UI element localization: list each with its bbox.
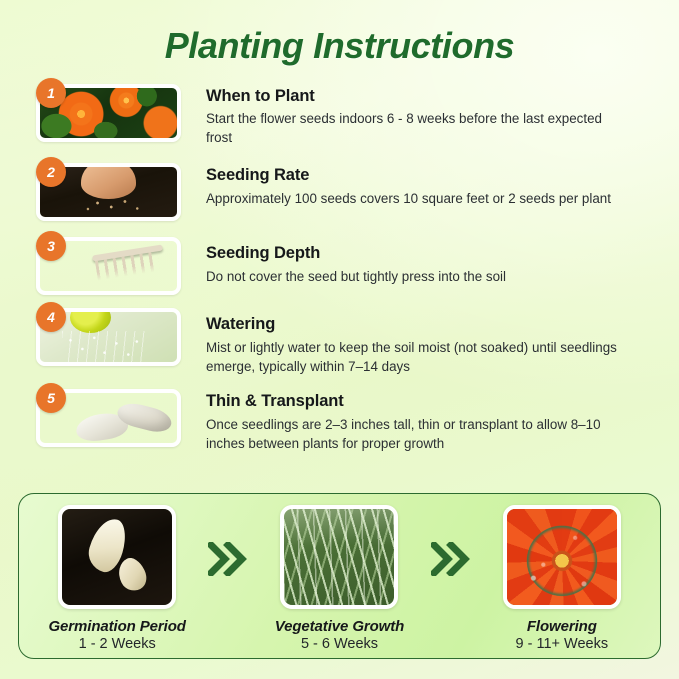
- timeline-stage-duration: 9 - 11+ Weeks: [516, 636, 609, 652]
- step-media: 1: [36, 84, 188, 142]
- step-text: Seeding Rate Approximately 100 seeds cov…: [188, 163, 655, 208]
- step-description: Mist or lightly water to keep the soil m…: [206, 338, 618, 376]
- step-description: Do not cover the seed but tightly press …: [206, 267, 618, 286]
- step-item: 1 When to Plant Start the flower seeds i…: [36, 84, 655, 148]
- step-title: Watering: [206, 314, 655, 335]
- step-media: 5: [36, 389, 188, 447]
- timeline-stage-label: Germination Period: [48, 618, 185, 635]
- vegetative-foliage-photo: [284, 509, 394, 605]
- timeline-stage: Flowering 9 - 11+ Weeks: [478, 501, 646, 652]
- timeline-thumbnail: [503, 505, 621, 609]
- step-number-badge: 1: [36, 78, 66, 108]
- step-number-badge: 5: [36, 383, 66, 413]
- page-title: Planting Instructions: [0, 0, 679, 65]
- double-chevron-right-icon: [201, 542, 255, 576]
- step-text: Thin & Transplant Once seedlings are 2–3…: [188, 389, 655, 453]
- step-description: Approximately 100 seeds covers 10 square…: [206, 189, 618, 208]
- step-description: Once seedlings are 2–3 inches tall, thin…: [206, 415, 618, 453]
- step-title: Thin & Transplant: [206, 391, 655, 412]
- timeline-stage-duration: 5 - 6 Weeks: [301, 636, 378, 652]
- timeline-stage: Germination Period 1 - 2 Weeks: [33, 501, 201, 652]
- timeline-thumbnail: [280, 505, 398, 609]
- growth-timeline: Germination Period 1 - 2 Weeks Vegetativ…: [18, 493, 661, 659]
- step-title: Seeding Depth: [206, 243, 655, 264]
- step-media: 3: [36, 237, 188, 295]
- step-title: When to Plant: [206, 86, 655, 107]
- timeline-stage-label: Vegetative Growth: [275, 618, 404, 635]
- step-text: When to Plant Start the flower seeds ind…: [188, 84, 655, 148]
- step-item: 3 Seeding Depth Do not cover the seed bu…: [36, 237, 655, 295]
- step-text: Seeding Depth Do not cover the seed but …: [188, 237, 655, 286]
- step-media: 2: [36, 163, 188, 221]
- step-media: 4: [36, 308, 188, 366]
- timeline-thumbnail: [58, 505, 176, 609]
- germinating-seeds-photo: [62, 509, 172, 605]
- double-chevron-right-icon: [424, 542, 478, 576]
- steps-list: 1 When to Plant Start the flower seeds i…: [0, 84, 679, 453]
- timeline-stage-label: Flowering: [527, 618, 597, 635]
- step-item: 5 Thin & Transplant Once seedlings are 2…: [36, 389, 655, 453]
- step-item: 4 Watering Mist or lightly water to keep…: [36, 308, 655, 376]
- red-flower-bloom-photo: [507, 509, 617, 605]
- infographic-page: Planting Instructions 1 When to Plant St…: [0, 0, 679, 679]
- timeline-stage: Vegetative Growth 5 - 6 Weeks: [255, 501, 423, 652]
- step-item: 2 Seeding Rate Approximately 100 seeds c…: [36, 163, 655, 221]
- timeline-stage-duration: 1 - 2 Weeks: [79, 636, 156, 652]
- step-text: Watering Mist or lightly water to keep t…: [188, 308, 655, 376]
- step-title: Seeding Rate: [206, 165, 655, 186]
- step-description: Start the flower seeds indoors 6 - 8 wee…: [206, 109, 618, 147]
